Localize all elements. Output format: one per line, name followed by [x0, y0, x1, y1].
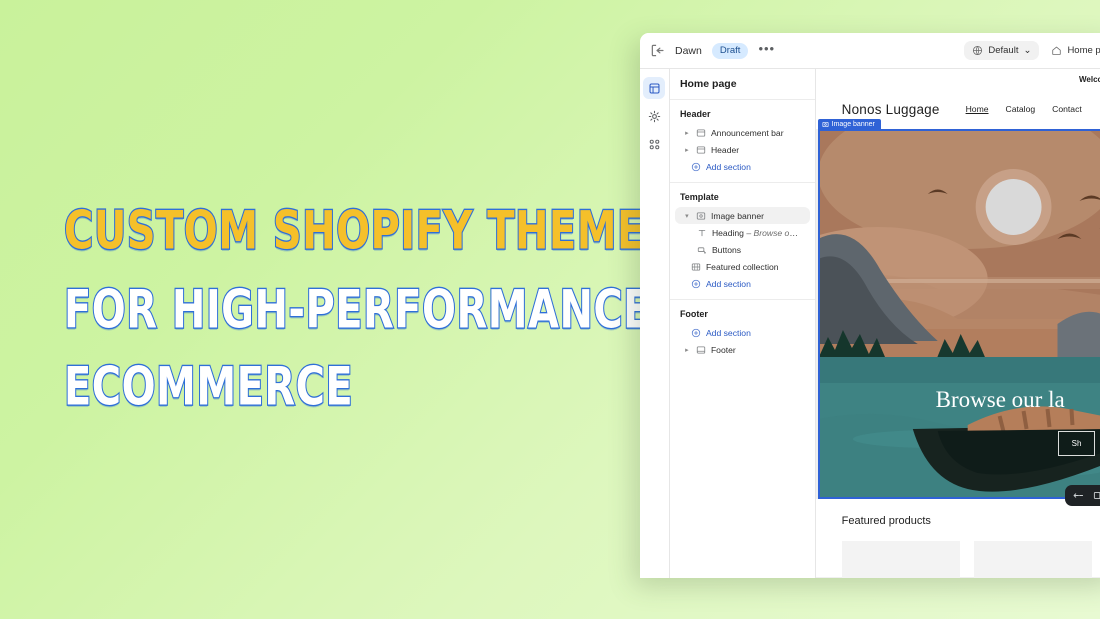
resize-handle-icon[interactable]	[1073, 490, 1084, 501]
add-section-label: Add section	[706, 279, 751, 289]
home-icon	[1051, 45, 1062, 56]
store-preview[interactable]: Welcome Nonos Luggage Home Catalog Conta…	[816, 69, 1100, 578]
apps-icon	[648, 138, 661, 151]
collection-icon	[691, 262, 701, 272]
sidebar-block-heading[interactable]: Heading – Browse our latest pro...	[675, 224, 810, 241]
sidebar-item-label: Featured collection	[706, 262, 779, 272]
add-section-label: Add section	[706, 162, 751, 172]
sidebar-item-label: Header	[711, 145, 739, 155]
sidebar-item-footer[interactable]: ▸ Footer	[675, 341, 810, 358]
chevron-right-icon[interactable]: ▸	[683, 146, 691, 154]
nav-link-home[interactable]: Home	[966, 104, 989, 114]
banner-badge-label: Image banner	[832, 121, 875, 128]
rail-settings-button[interactable]	[643, 105, 665, 127]
add-section-button-footer[interactable]: Add section	[675, 324, 810, 341]
add-section-label: Add section	[706, 328, 751, 338]
editor-body: Home page Header ▸ Announcement bar ▸	[640, 69, 1100, 578]
chevron-down-icon: ⌄	[1023, 45, 1031, 56]
topbar-right-group: Default ⌄ Home pa	[964, 41, 1100, 60]
locale-label: Default	[988, 45, 1018, 56]
plus-circle-icon	[691, 279, 701, 289]
sidebar-group-header: Header ▸ Announcement bar ▸ Header	[670, 100, 815, 183]
promo-line-3: Ecommerce	[64, 362, 548, 414]
announcement-bar: Welcome	[816, 69, 1100, 89]
locale-selector[interactable]: Default ⌄	[964, 41, 1039, 60]
group-label: Header	[670, 107, 815, 124]
sidebar-item-header[interactable]: ▸ Header	[675, 141, 810, 158]
rail-apps-button[interactable]	[643, 133, 665, 155]
add-section-button-template[interactable]: Add section	[675, 275, 810, 292]
featured-products-title: Featured products	[842, 515, 1100, 527]
block-sub: – Browse our latest pro...	[744, 228, 802, 238]
editor-topbar: Dawn Draft ••• Default ⌄ Home pa	[640, 33, 1100, 69]
sections-icon	[648, 82, 661, 95]
preview-float-toolbar[interactable]	[1065, 485, 1100, 506]
nav-link-catalog[interactable]: Catalog	[1006, 104, 1036, 114]
button-icon	[697, 245, 707, 255]
sidebar-block-label: Heading – Browse our latest pro...	[712, 228, 802, 238]
promo-headline: Custom Shopify Theme for High-Performanc…	[64, 206, 584, 427]
more-menu-button[interactable]: •••	[758, 45, 775, 57]
sidebar-item-label: Announcement bar	[711, 128, 784, 138]
sidebar-item-featured-collection[interactable]: Featured collection	[675, 258, 810, 275]
image-banner-section[interactable]: Image banner	[818, 129, 1100, 499]
chevron-right-icon[interactable]: ▸	[683, 129, 691, 137]
status-badge: Draft	[712, 43, 749, 59]
hero-shop-button[interactable]: Sh	[1058, 431, 1096, 456]
hero-heading: Browse our la	[936, 387, 1065, 413]
promo-line-2: for High-Performance	[64, 285, 548, 337]
chevron-down-icon[interactable]: ▾	[683, 212, 691, 220]
rail-sections-button[interactable]	[643, 77, 665, 99]
sidebar-block-buttons[interactable]: Buttons	[675, 241, 810, 258]
sections-sidebar: Home page Header ▸ Announcement bar ▸	[670, 69, 816, 578]
page-label: Home pa	[1067, 45, 1100, 56]
banner-artwork[interactable]: Browse our la Sh	[818, 129, 1100, 499]
page-selector[interactable]: Home pa	[1051, 45, 1100, 56]
sidebar-item-label: Footer	[711, 345, 736, 355]
sidebar-item-image-banner[interactable]: ▾ Image banner	[675, 207, 810, 224]
add-section-button-header[interactable]: Add section	[675, 158, 810, 175]
section-icon	[696, 128, 706, 138]
editor-icon-rail	[640, 69, 670, 578]
block-name: Heading	[712, 228, 744, 238]
nav-link-contact[interactable]: Contact	[1052, 104, 1082, 114]
featured-products-section: Featured products	[816, 499, 1100, 577]
promo-line-1: Custom Shopify Theme	[64, 206, 548, 258]
product-grid	[842, 541, 1100, 578]
plus-circle-icon	[691, 162, 701, 172]
product-card[interactable]	[842, 541, 960, 578]
sidebar-group-template: Template ▾ Image banner Heading – Browse…	[670, 183, 815, 300]
section-icon	[696, 145, 706, 155]
sidebar-item-announcement-bar[interactable]: ▸ Announcement bar	[675, 124, 810, 141]
page-title: Home page	[670, 69, 815, 100]
theme-name[interactable]: Dawn	[675, 45, 702, 57]
group-label: Template	[670, 190, 815, 207]
text-icon	[697, 228, 707, 238]
group-label: Footer	[670, 307, 815, 324]
sidebar-group-footer: Footer Add section ▸ Footer	[670, 300, 815, 365]
globe-icon	[972, 45, 983, 56]
device-preview-icon[interactable]	[1093, 490, 1100, 501]
sidebar-block-label: Buttons	[712, 245, 741, 255]
store-nav: Home Catalog Contact	[966, 104, 1082, 114]
shopify-theme-editor-window: Dawn Draft ••• Default ⌄ Home pa	[640, 33, 1100, 578]
image-banner-icon	[696, 211, 706, 221]
footer-icon	[696, 345, 706, 355]
sidebar-item-label: Image banner	[711, 211, 764, 221]
settings-gear-icon	[648, 110, 661, 123]
plus-circle-icon	[691, 328, 701, 338]
chevron-right-icon[interactable]: ▸	[683, 346, 691, 354]
announcement-text: Welcome	[1079, 75, 1100, 84]
image-banner-badge: Image banner	[818, 119, 881, 130]
product-card[interactable]	[974, 541, 1092, 578]
exit-icon[interactable]	[650, 43, 665, 58]
image-banner-icon	[822, 121, 829, 128]
store-name[interactable]: Nonos Luggage	[842, 102, 940, 117]
